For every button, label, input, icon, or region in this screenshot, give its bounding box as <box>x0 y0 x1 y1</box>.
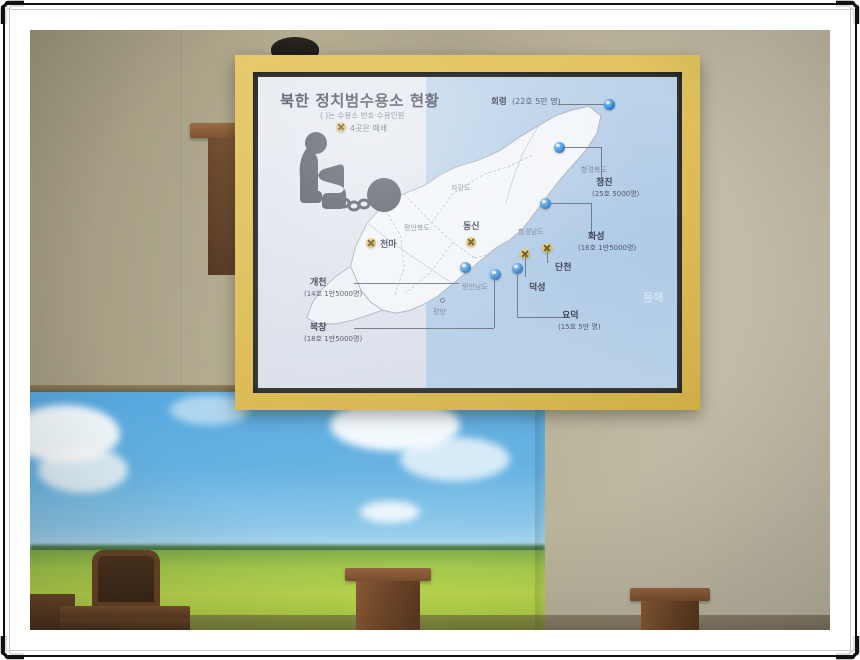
photograph: 북한 정치범수용소 현황 ( )는 수용소 번호·수용인원 4곳은 폐쇄 자강도… <box>30 30 830 630</box>
photo-frame: 북한 정치범수용소 현황 ( )는 수용소 번호·수용인원 4곳은 폐쇄 자강도… <box>0 0 860 660</box>
photo-vignette <box>30 30 830 630</box>
